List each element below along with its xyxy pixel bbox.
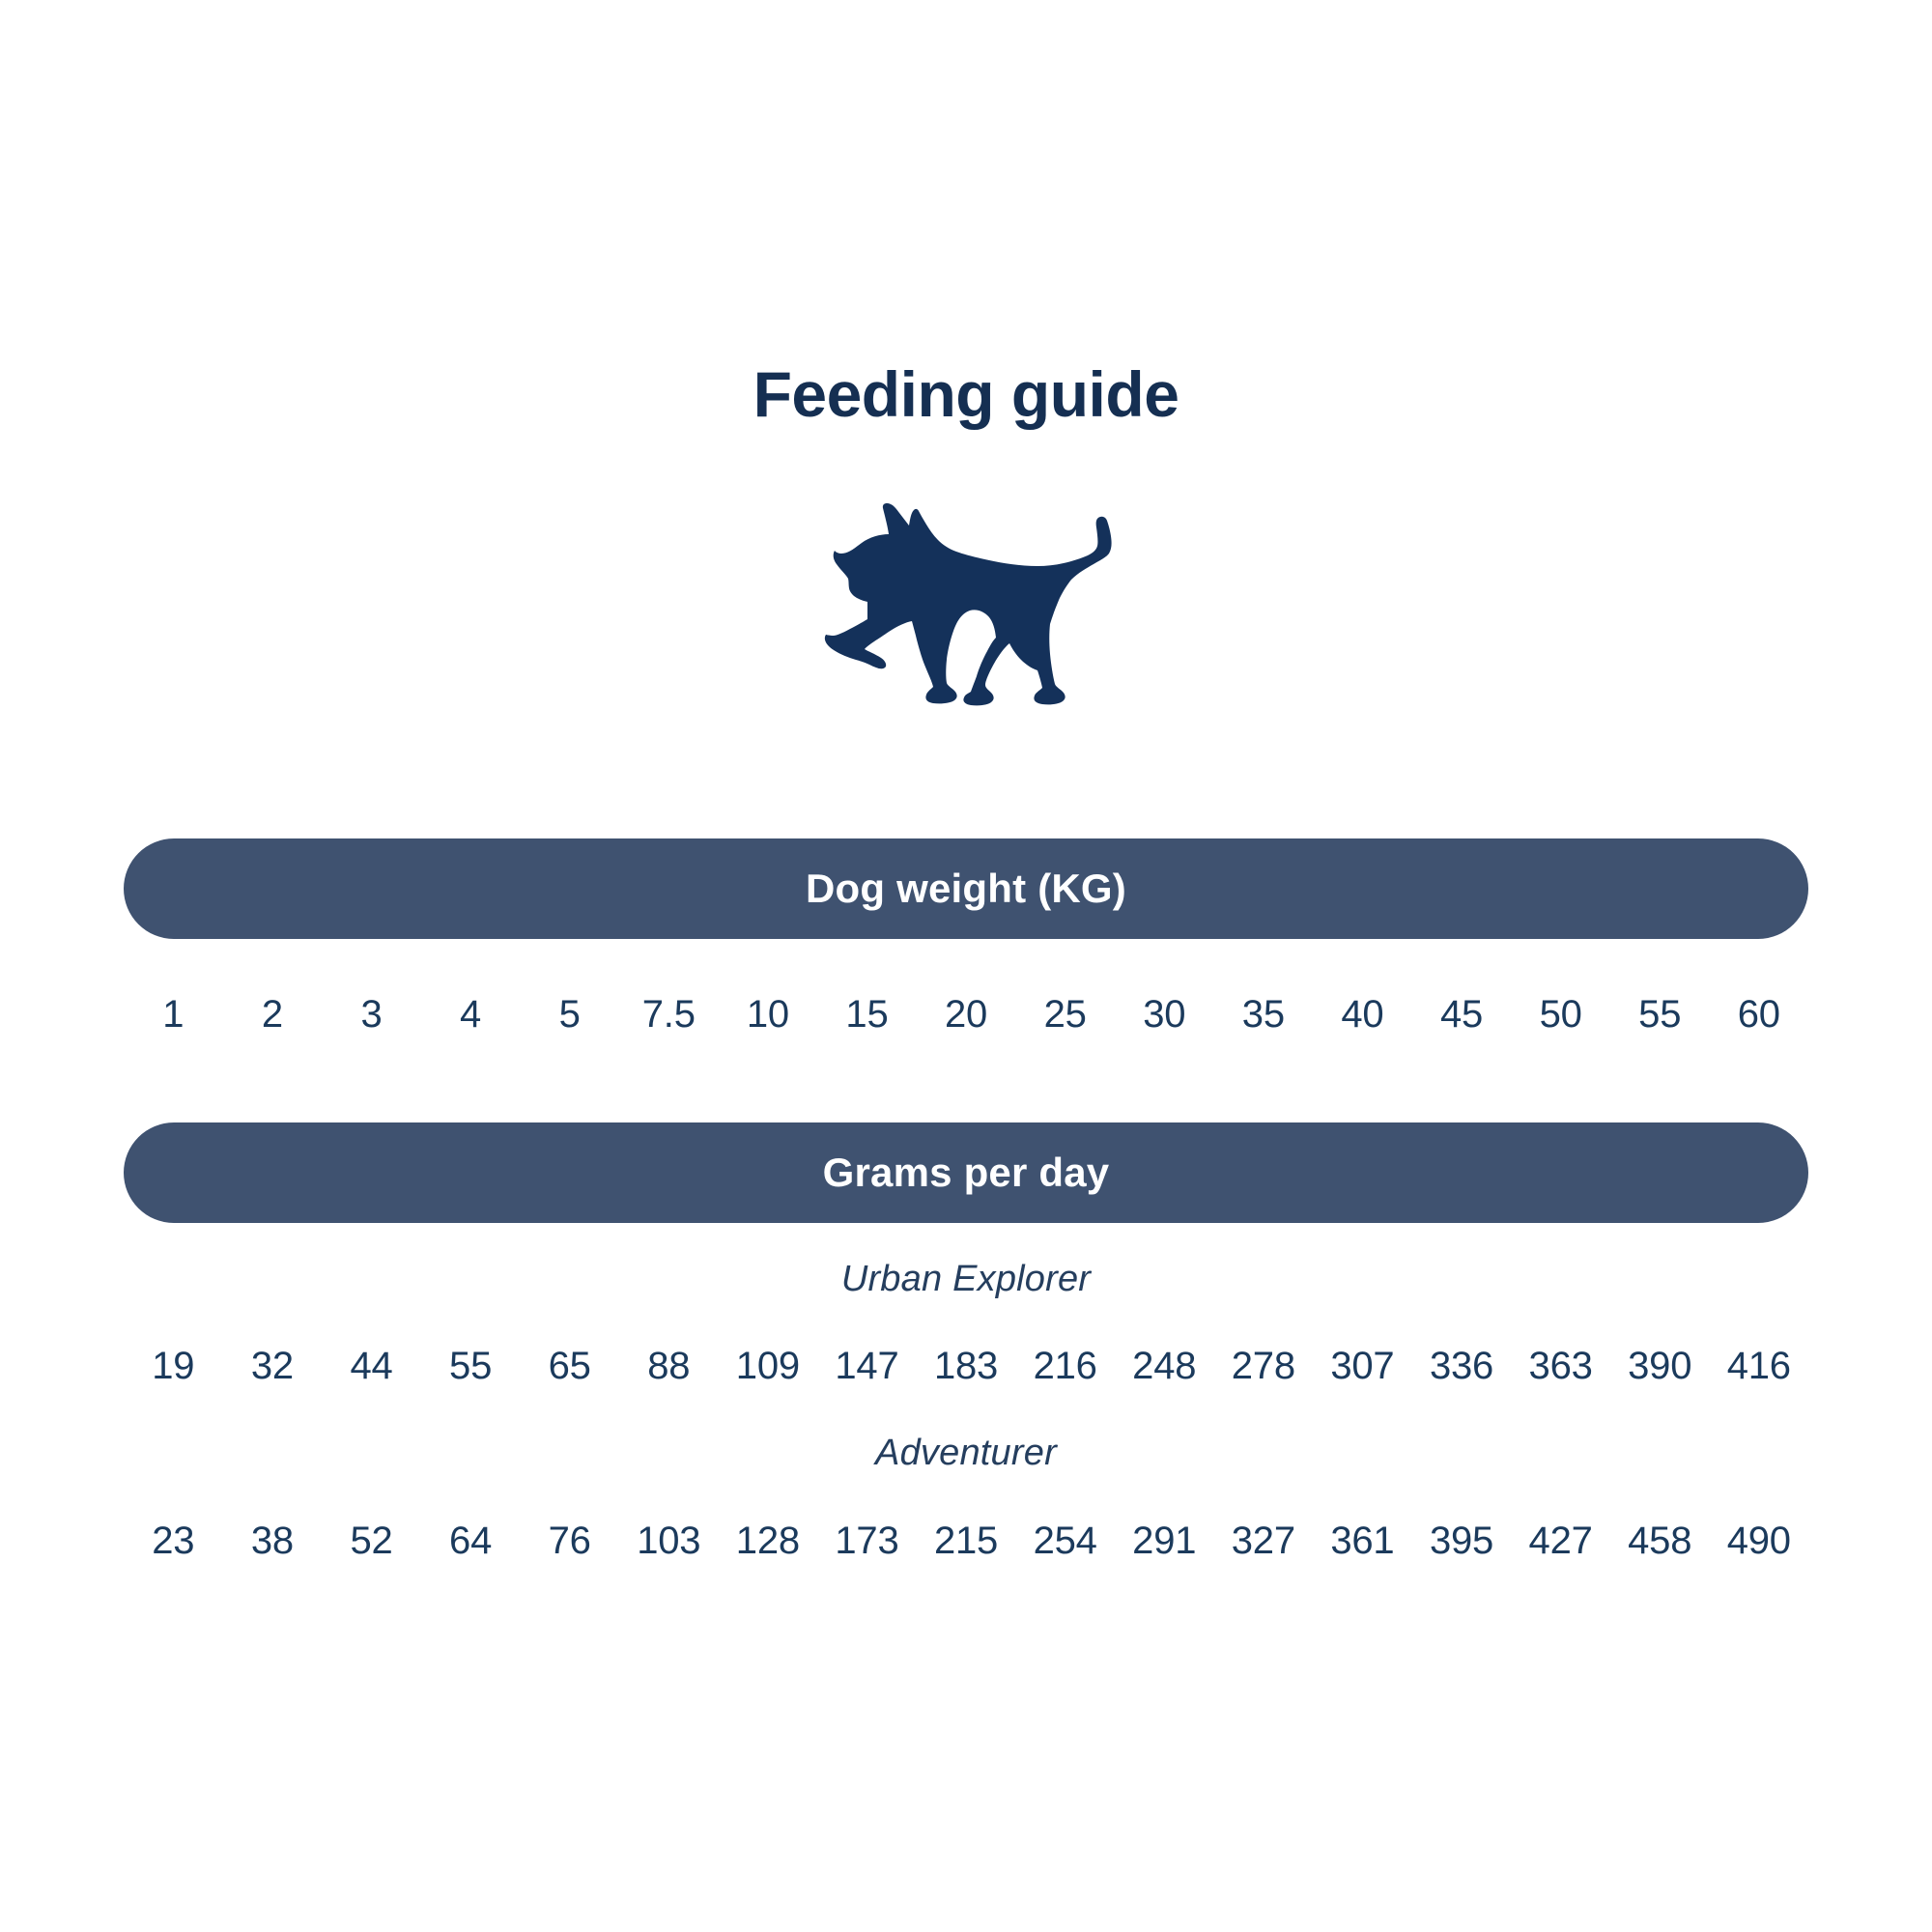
adventurer-cell: 361 (1313, 1520, 1412, 1563)
weight-cell: 7.5 (619, 993, 719, 1037)
explorer-cell: 216 (1015, 1345, 1115, 1388)
weight-cell: 50 (1511, 993, 1610, 1037)
explorer-cell: 44 (322, 1345, 421, 1388)
explorer-cell: 109 (719, 1345, 818, 1388)
weight-cell: 45 (1412, 993, 1512, 1037)
grams-per-day-header-bar: Grams per day (124, 1122, 1808, 1223)
adventurer-cell: 458 (1610, 1520, 1710, 1563)
explorer-cell: 363 (1511, 1345, 1610, 1388)
urban-explorer-values-row: 19 32 44 55 65 88 109 147 183 216 248 27… (124, 1345, 1808, 1388)
grams-per-day-header-label: Grams per day (823, 1150, 1110, 1196)
adventurer-cell: 291 (1115, 1520, 1214, 1563)
explorer-cell: 183 (917, 1345, 1016, 1388)
explorer-cell: 307 (1313, 1345, 1412, 1388)
adventurer-cell: 327 (1214, 1520, 1314, 1563)
weight-cell: 15 (817, 993, 917, 1037)
adventurer-cell: 395 (1412, 1520, 1512, 1563)
weight-cell: 35 (1214, 993, 1314, 1037)
weight-cell: 5 (520, 993, 619, 1037)
adventurer-cell: 23 (124, 1520, 223, 1563)
adventurer-cell: 173 (817, 1520, 917, 1563)
weight-cell: 4 (421, 993, 521, 1037)
weight-cell: 30 (1115, 993, 1214, 1037)
explorer-cell: 88 (619, 1345, 719, 1388)
weight-cell: 2 (223, 993, 323, 1037)
explorer-cell: 19 (124, 1345, 223, 1388)
adventurer-cell: 215 (917, 1520, 1016, 1563)
adventurer-values-row: 23 38 52 64 76 103 128 173 215 254 291 3… (124, 1520, 1808, 1563)
weight-cell: 10 (719, 993, 818, 1037)
dog-weight-header-bar: Dog weight (KG) (124, 838, 1808, 939)
explorer-cell: 65 (520, 1345, 619, 1388)
adventurer-cell: 64 (421, 1520, 521, 1563)
title-block: Feeding guide (0, 359, 1932, 430)
weight-cell: 60 (1710, 993, 1809, 1037)
adventurer-cell: 128 (719, 1520, 818, 1563)
explorer-cell: 147 (817, 1345, 917, 1388)
weight-cell: 40 (1313, 993, 1412, 1037)
feeding-guide-page: Feeding guide Dog weight (KG) 1 2 3 4 5 … (0, 0, 1932, 1932)
dog-silhouette-icon (810, 502, 1119, 724)
explorer-cell: 248 (1115, 1345, 1214, 1388)
adventurer-cell: 76 (520, 1520, 619, 1563)
adventurer-cell: 103 (619, 1520, 719, 1563)
weight-cell: 1 (124, 993, 223, 1037)
adventurer-cell: 52 (322, 1520, 421, 1563)
dog-weight-header-label: Dog weight (KG) (806, 866, 1126, 912)
weight-cell: 25 (1015, 993, 1115, 1037)
adventurer-cell: 254 (1015, 1520, 1115, 1563)
weight-cell: 55 (1610, 993, 1710, 1037)
explorer-cell: 32 (223, 1345, 323, 1388)
group-label-adventurer: Adventurer (0, 1433, 1932, 1474)
explorer-cell: 55 (421, 1345, 521, 1388)
page-title: Feeding guide (0, 359, 1932, 430)
adventurer-cell: 490 (1710, 1520, 1809, 1563)
explorer-cell: 416 (1710, 1345, 1809, 1388)
explorer-cell: 336 (1412, 1345, 1512, 1388)
group-label-urban-explorer: Urban Explorer (0, 1259, 1932, 1300)
adventurer-cell: 427 (1511, 1520, 1610, 1563)
weight-cell: 20 (917, 993, 1016, 1037)
adventurer-cell: 38 (223, 1520, 323, 1563)
explorer-cell: 390 (1610, 1345, 1710, 1388)
dog-weight-values-row: 1 2 3 4 5 7.5 10 15 20 25 30 35 40 45 50… (124, 993, 1808, 1037)
weight-cell: 3 (322, 993, 421, 1037)
explorer-cell: 278 (1214, 1345, 1314, 1388)
